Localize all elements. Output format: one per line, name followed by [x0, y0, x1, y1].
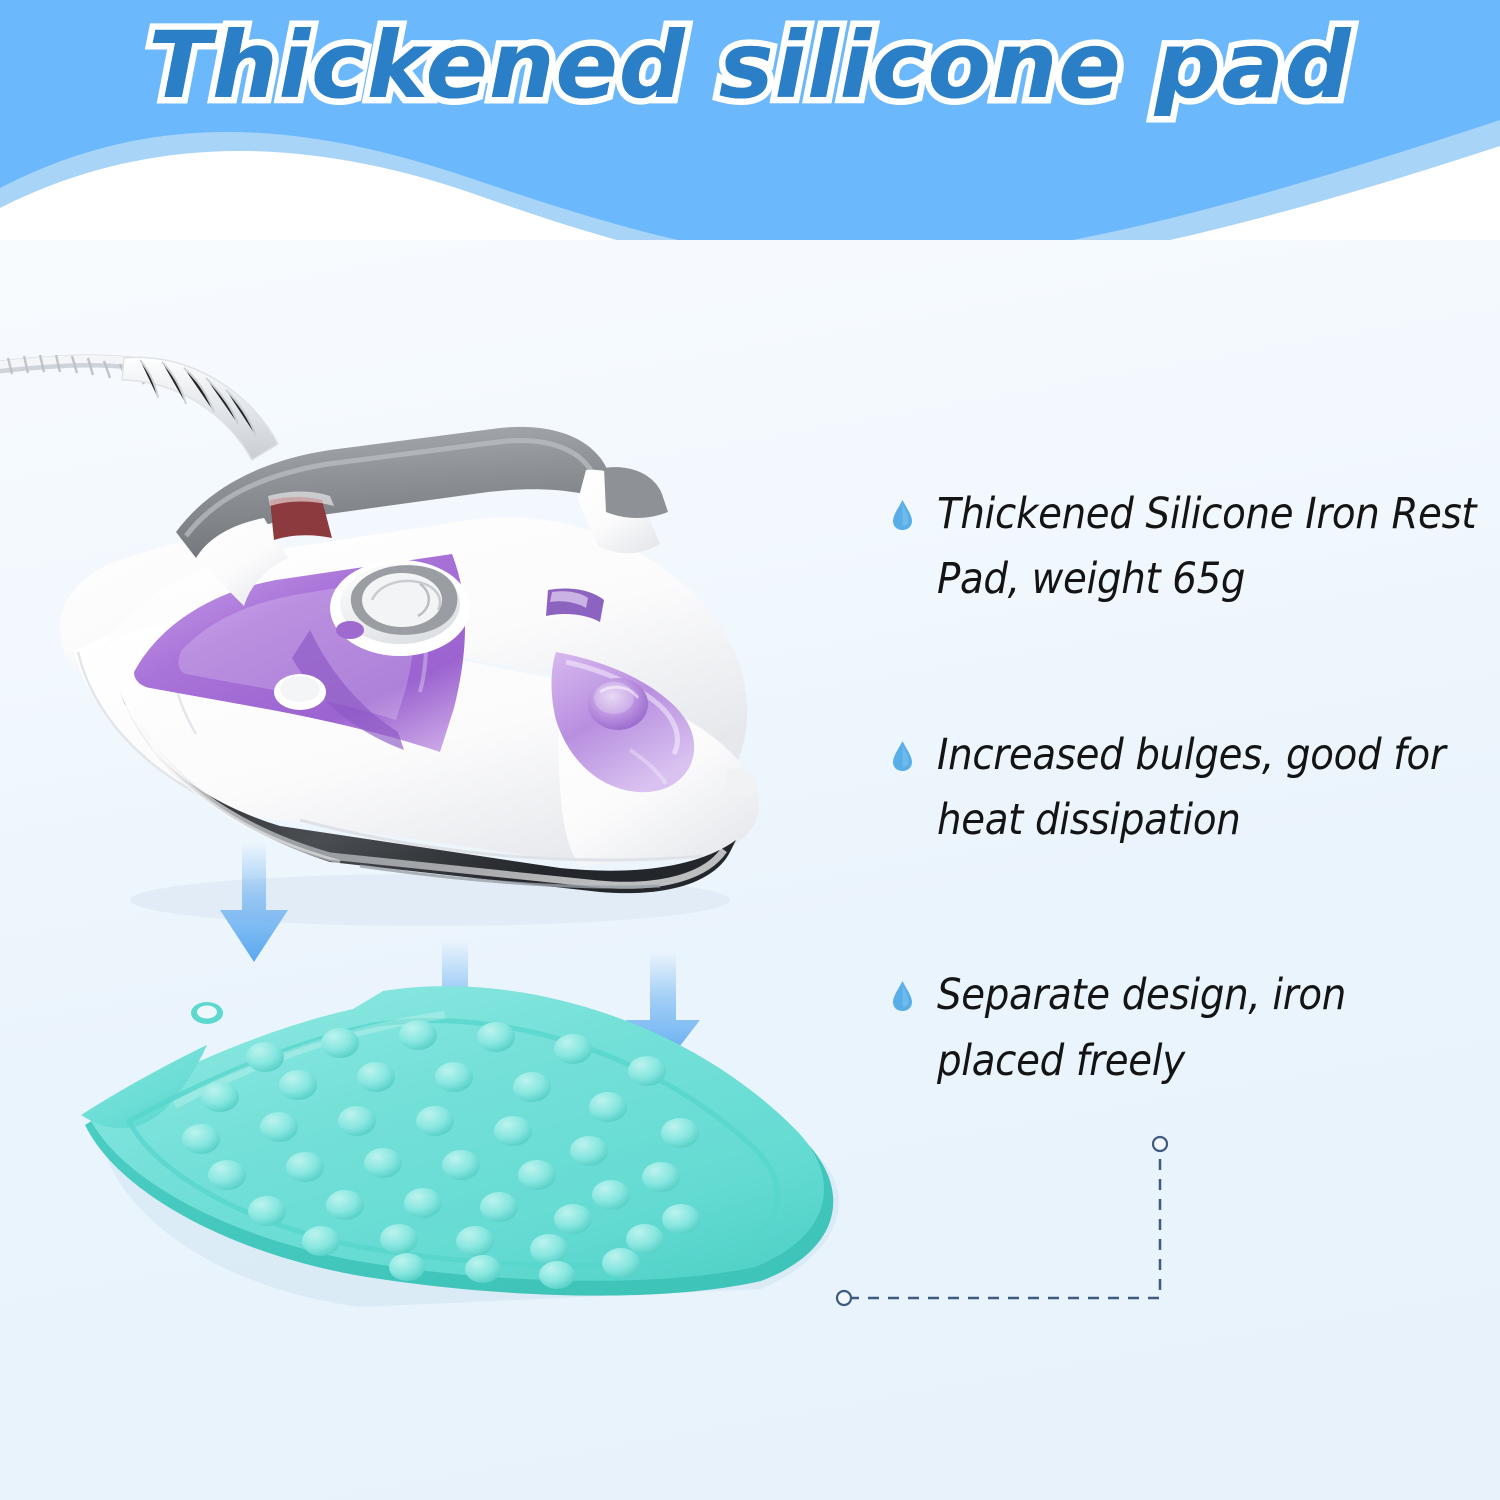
feature-list: Thickened Silicone Iron Rest Pad, weight…	[893, 482, 1483, 1094]
water-drop-icon	[893, 981, 912, 1011]
list-item: Increased bulges, good for heat dissipat…	[893, 723, 1483, 854]
silicone-iron-rest-pad	[55, 975, 885, 1320]
cord-strain-relief	[122, 357, 278, 460]
power-cord	[0, 355, 278, 460]
callout-endpoint-start	[837, 1291, 851, 1305]
water-drop-icon	[893, 500, 912, 530]
product-infographic: Thickened silicone pad Thickened silicon…	[0, 0, 1500, 1500]
list-item: Separate design, iron placed freely	[893, 963, 1483, 1094]
list-item-label: Separate design, iron placed freely	[937, 963, 1483, 1094]
header-banner: Thickened silicone pad Thickened silicon…	[0, 0, 1500, 240]
temperature-dial[interactable]	[330, 560, 470, 656]
arrow-down-1	[220, 842, 288, 962]
spray-button[interactable]	[274, 674, 326, 710]
dimension-callout	[820, 1120, 1220, 1340]
list-item: Thickened Silicone Iron Rest Pad, weight…	[893, 482, 1483, 613]
callout-endpoint-end	[1153, 1137, 1167, 1151]
callout-dashed-line	[848, 1148, 1160, 1298]
hanging-hole	[191, 1002, 223, 1024]
list-item-label: Increased bulges, good for heat dissipat…	[937, 723, 1483, 854]
water-drop-icon	[893, 741, 912, 771]
page-title: Thickened silicone pad	[0, 14, 1500, 117]
steam-trigger-button	[604, 467, 668, 518]
list-item-label: Thickened Silicone Iron Rest Pad, weight…	[937, 482, 1483, 613]
tank-vent	[336, 621, 364, 639]
